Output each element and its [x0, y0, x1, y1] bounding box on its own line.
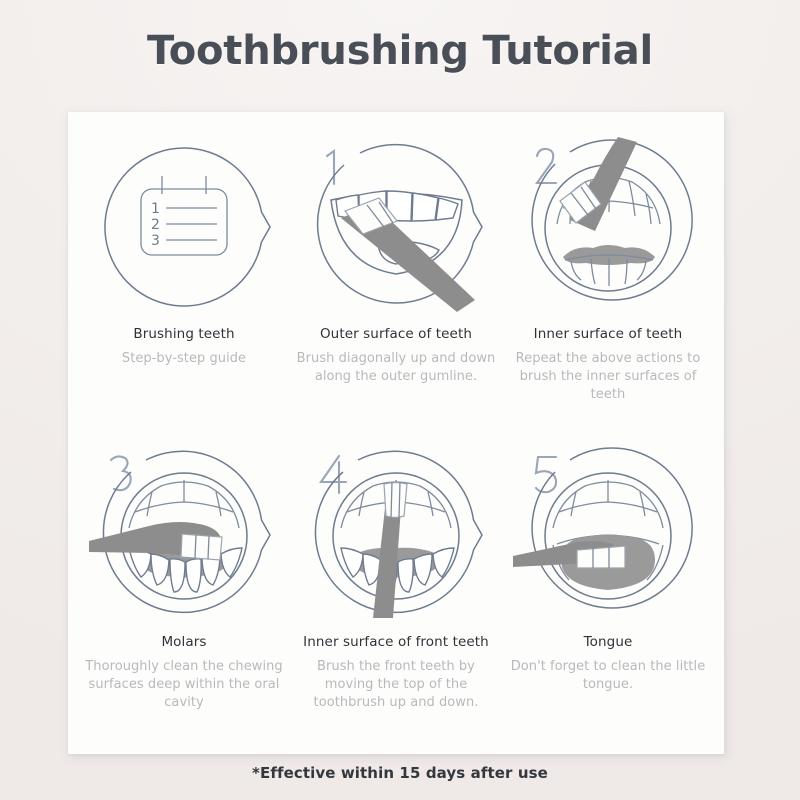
- step-number-3: [111, 456, 131, 490]
- upper-arch-teeth: [553, 480, 663, 528]
- outer-teeth-brushing-icon: [301, 132, 491, 322]
- panel-subtitle: Thoroughly clean the chewing surfaces de…: [84, 658, 284, 712]
- panel-subtitle: Brush the front teeth by moving the top …: [296, 658, 496, 712]
- checklist-card-shape: 1 2 3: [141, 176, 227, 255]
- panel-brushing-teeth[interactable]: 1 2 3 Brushing teeth Step-by-step guide: [78, 130, 290, 438]
- panel-title: Inner surface of front teeth: [303, 634, 489, 650]
- panel-front-teeth[interactable]: Inner surface of front teeth Brush the f…: [290, 438, 502, 746]
- panel-subtitle: Repeat the above actions to brush the in…: [508, 350, 708, 404]
- panel-title: Inner surface of teeth: [534, 326, 683, 342]
- checklist-icon: 1 2 3: [89, 132, 279, 322]
- svg-text:2: 2: [151, 217, 160, 233]
- panel-molars[interactable]: Molars Thoroughly clean the chewing surf…: [78, 438, 290, 746]
- panel-title: Tongue: [584, 634, 633, 650]
- panel-tongue[interactable]: Tongue Don't forget to clean the little …: [502, 438, 714, 746]
- panel-subtitle: Don't forget to clean the little tongue.: [508, 658, 708, 694]
- brush-head: [577, 546, 625, 568]
- brush-head: [384, 482, 407, 518]
- molar-brushing-icon: [89, 440, 279, 630]
- tongue-brushing-icon: [513, 440, 703, 630]
- svg-text:1: 1: [151, 201, 160, 217]
- footer-note: *Effective within 15 days after use: [0, 764, 800, 782]
- panel-title: Molars: [161, 634, 206, 650]
- brush-head: [181, 534, 222, 560]
- panel-subtitle: Brush diagonally up and down along the o…: [296, 350, 496, 386]
- tongue-and-lower-teeth: [563, 245, 655, 286]
- tutorial-panel-grid: 1 2 3 Brushing teeth Step-by-step guide: [68, 112, 724, 754]
- panel-title: Outer surface of teeth: [320, 326, 472, 342]
- front-teeth-brushing-icon: [301, 440, 491, 630]
- panel-outer-surface[interactable]: Outer surface of teeth Brush diagonally …: [290, 130, 502, 438]
- page-title: Toothbrushing Tutorial: [0, 28, 800, 74]
- panel-inner-surface[interactable]: Inner surface of teeth Repeat the above …: [502, 130, 714, 438]
- inner-teeth-brushing-icon: [513, 132, 703, 322]
- upper-arch-teeth: [129, 480, 239, 528]
- panel-title: Brushing teeth: [133, 326, 234, 342]
- tutorial-card: 1 2 3 Brushing teeth Step-by-step guide: [68, 112, 724, 754]
- panel-subtitle: Step-by-step guide: [122, 350, 246, 368]
- step-number-1: [327, 151, 334, 184]
- svg-text:3: 3: [151, 233, 160, 249]
- step-number-4: [321, 456, 346, 493]
